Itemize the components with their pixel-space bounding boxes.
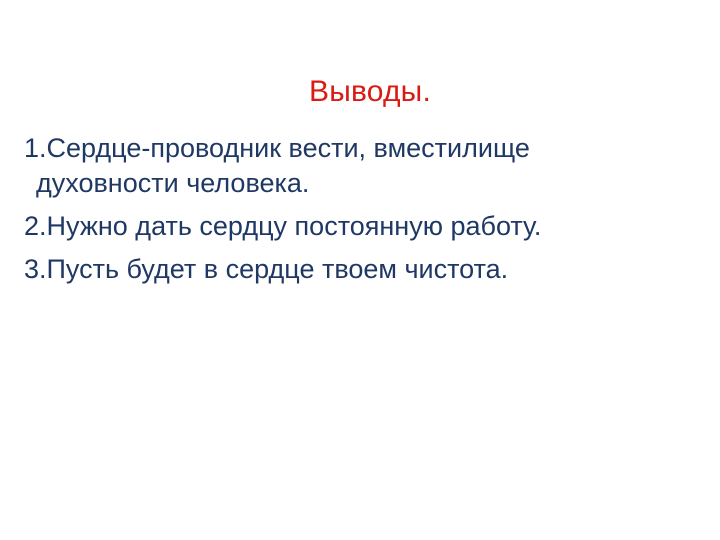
slide-title: Выводы. <box>0 74 720 110</box>
list-item: 1.Сердце-проводник вести, вместилище дух… <box>24 131 576 201</box>
list-item: 3.Пусть будет в сердце твоем чистота. <box>24 252 624 287</box>
slide-canvas: Выводы. 1.Сердце-проводник вести, вмести… <box>0 0 720 540</box>
list-item: 2.Нужно дать сердцу постоянную работу. <box>24 209 624 244</box>
conclusions-list: 1.Сердце-проводник вести, вместилище дух… <box>24 131 624 287</box>
